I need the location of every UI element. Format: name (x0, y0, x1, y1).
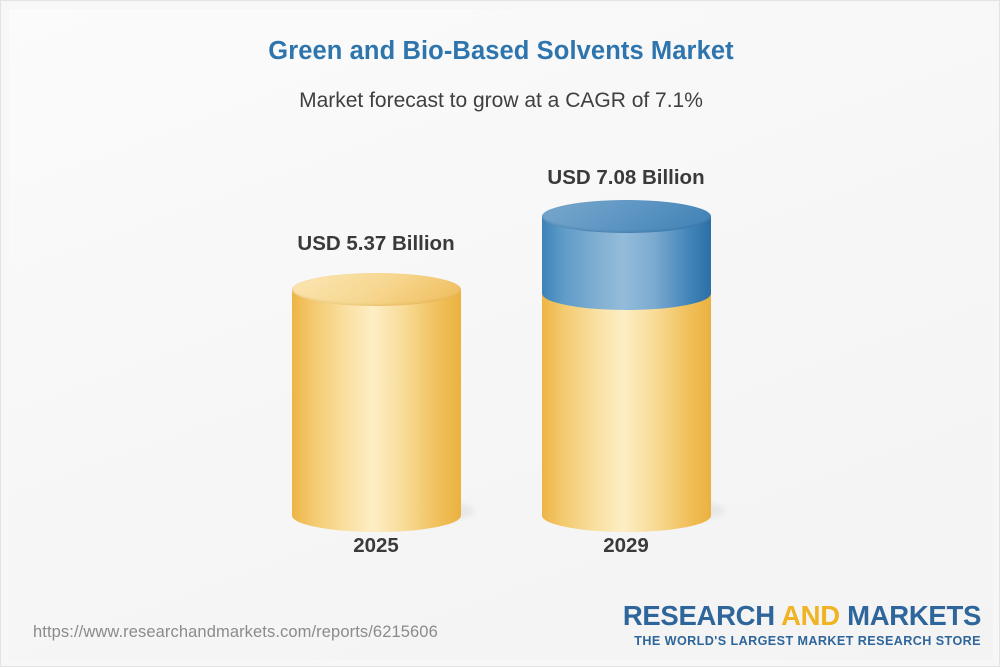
logo-word-research: RESEARCH (623, 600, 775, 631)
research-and-markets-logo: RESEARCH AND MARKETS THE WORLD'S LARGEST… (623, 602, 981, 648)
bar-body-2025 (292, 289, 461, 516)
logo-tagline: THE WORLD'S LARGEST MARKET RESEARCH STOR… (623, 634, 981, 648)
logo-word-markets: MARKETS (847, 600, 981, 631)
bar-top-cap-2029 (542, 200, 711, 233)
bar-body-base-2029 (542, 294, 711, 516)
bar-value-label-2025: USD 5.37 Billion (211, 232, 541, 256)
bar-top-cap-2025 (292, 273, 461, 306)
bar-top-segment-bottom-cap-2029 (542, 277, 711, 310)
source-url[interactable]: https://www.researchandmarkets.com/repor… (33, 623, 438, 642)
chart-card: Green and Bio-Based Solvents Market Mark… (0, 0, 1000, 667)
bar-value-label-2029: USD 7.08 Billion (461, 166, 791, 190)
bar-category-label-2029: 2029 (461, 534, 791, 558)
chart-plot-area: USD 5.37 Billion 2025 USD 7.08 Billion (1, 1, 1000, 667)
logo-word-and: AND (781, 600, 840, 631)
logo-wordmark: RESEARCH AND MARKETS (623, 602, 981, 631)
